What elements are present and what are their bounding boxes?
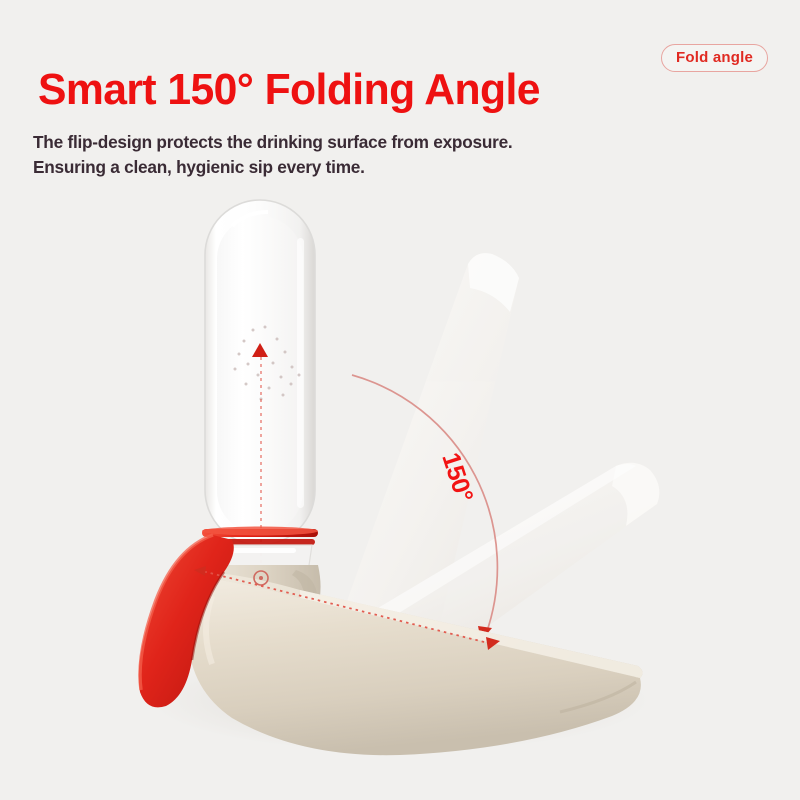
product-illustration: 150°: [0, 0, 800, 800]
bottle-cap: [205, 200, 315, 545]
product-feature-slide: Fold angle Smart 150° Folding Angle The …: [0, 0, 800, 800]
